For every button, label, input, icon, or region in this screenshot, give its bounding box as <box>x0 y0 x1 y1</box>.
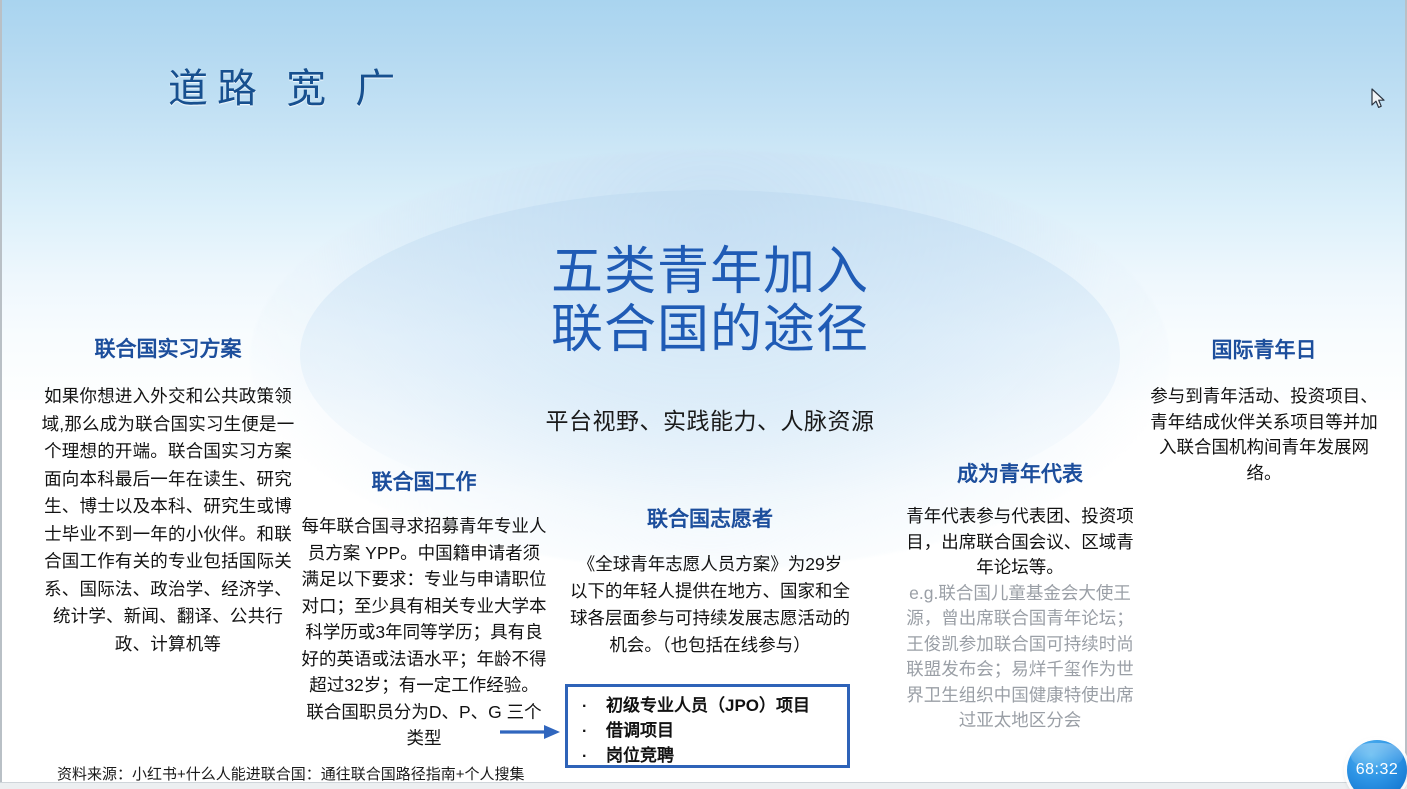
arrow-right-icon <box>500 722 562 742</box>
bullet-item: · 岗位竞聘 <box>568 744 847 769</box>
bullet-item: · 初级专业人员（JPO）项目 <box>568 694 847 719</box>
bullet-dot-icon: · <box>582 695 606 719</box>
presentation-slide: 道路 宽 广 五类青年加入 联合国的途径 平台视野、实践能力、人脉资源 联合国实… <box>0 0 1407 789</box>
source-footnote: 资料来源：小红书+什么人能进联合国：通往联合国路径指南+个人搜集 <box>57 763 525 784</box>
column-body-youth-delegate: 青年代表参与代表团、投资项目，出席联合国会议、区域青年论坛等。 <box>902 504 1138 581</box>
bullet-label: 借调项目 <box>606 719 674 743</box>
column-un-volunteer: 联合国志愿者 《全球青年志愿人员方案》为29岁以下的年轻人提供在地方、国家和全球… <box>570 503 850 659</box>
column-body-international-youth-day: 参与到青年活动、投资项目、青年结成伙伴关系项目等并加入联合国机构间青年发展网络。 <box>1145 384 1383 486</box>
jpo-bullet-box: · 初级专业人员（JPO）项目 · 借调项目 · 岗位竞聘 <box>565 684 850 768</box>
bullet-dot-icon: · <box>582 745 606 769</box>
column-body-un-employment: 每年联合国寻求招募青年专业人员方案 YPP。中国籍申请者须满足以下要求：专业与申… <box>300 513 548 752</box>
column-body-un-volunteer: 《全球青年志愿人员方案》为29岁以下的年轻人提供在地方、国家和全球各层面参与可持… <box>570 551 850 659</box>
column-heading-youth-delegate: 成为青年代表 <box>902 458 1138 488</box>
column-un-employment: 联合国工作 每年联合国寻求招募青年专业人员方案 YPP。中国籍申请者须满足以下要… <box>300 466 548 752</box>
column-un-internship: 联合国实习方案 如果你想进入外交和公共政策领域,那么成为联合国实习生便是一个理想… <box>38 333 298 658</box>
headline-line-2: 联合国的途径 <box>500 301 920 359</box>
column-youth-delegate: 成为青年代表 青年代表参与代表团、投资项目，出席联合国会议、区域青年论坛等。 e… <box>902 458 1138 734</box>
mouse-cursor-icon <box>1371 88 1387 110</box>
column-note-youth-delegate: e.g.联合国儿童基金会大使王源，曾出席联合国青年论坛；王俊凯参加联合国可持续时… <box>902 581 1138 734</box>
column-heading-un-volunteer: 联合国志愿者 <box>570 503 850 533</box>
bullet-dot-icon: · <box>582 720 606 744</box>
column-body-un-internship: 如果你想进入外交和公共政策领域,那么成为联合国实习生便是一个理想的开端。联合国实… <box>38 383 298 658</box>
bullet-label: 初级专业人员（JPO）项目 <box>606 694 810 718</box>
main-headline: 五类青年加入 联合国的途径 <box>500 243 920 359</box>
column-heading-un-internship: 联合国实习方案 <box>38 333 298 363</box>
column-international-youth-day: 国际青年日 参与到青年活动、投资项目、青年结成伙伴关系项目等并加入联合国机构间青… <box>1145 334 1383 486</box>
column-heading-international-youth-day: 国际青年日 <box>1145 334 1383 364</box>
slide-title: 道路 宽 广 <box>168 56 404 114</box>
column-heading-un-employment: 联合国工作 <box>300 466 548 496</box>
bullet-item: · 借调项目 <box>568 719 847 744</box>
headline-subtitle: 平台视野、实践能力、人脉资源 <box>470 402 950 436</box>
slide-frame-left-edge <box>0 0 2 789</box>
headline-line-1: 五类青年加入 <box>500 243 920 301</box>
timer-value: 68:32 <box>1356 761 1399 779</box>
bullet-label: 岗位竞聘 <box>606 744 674 768</box>
